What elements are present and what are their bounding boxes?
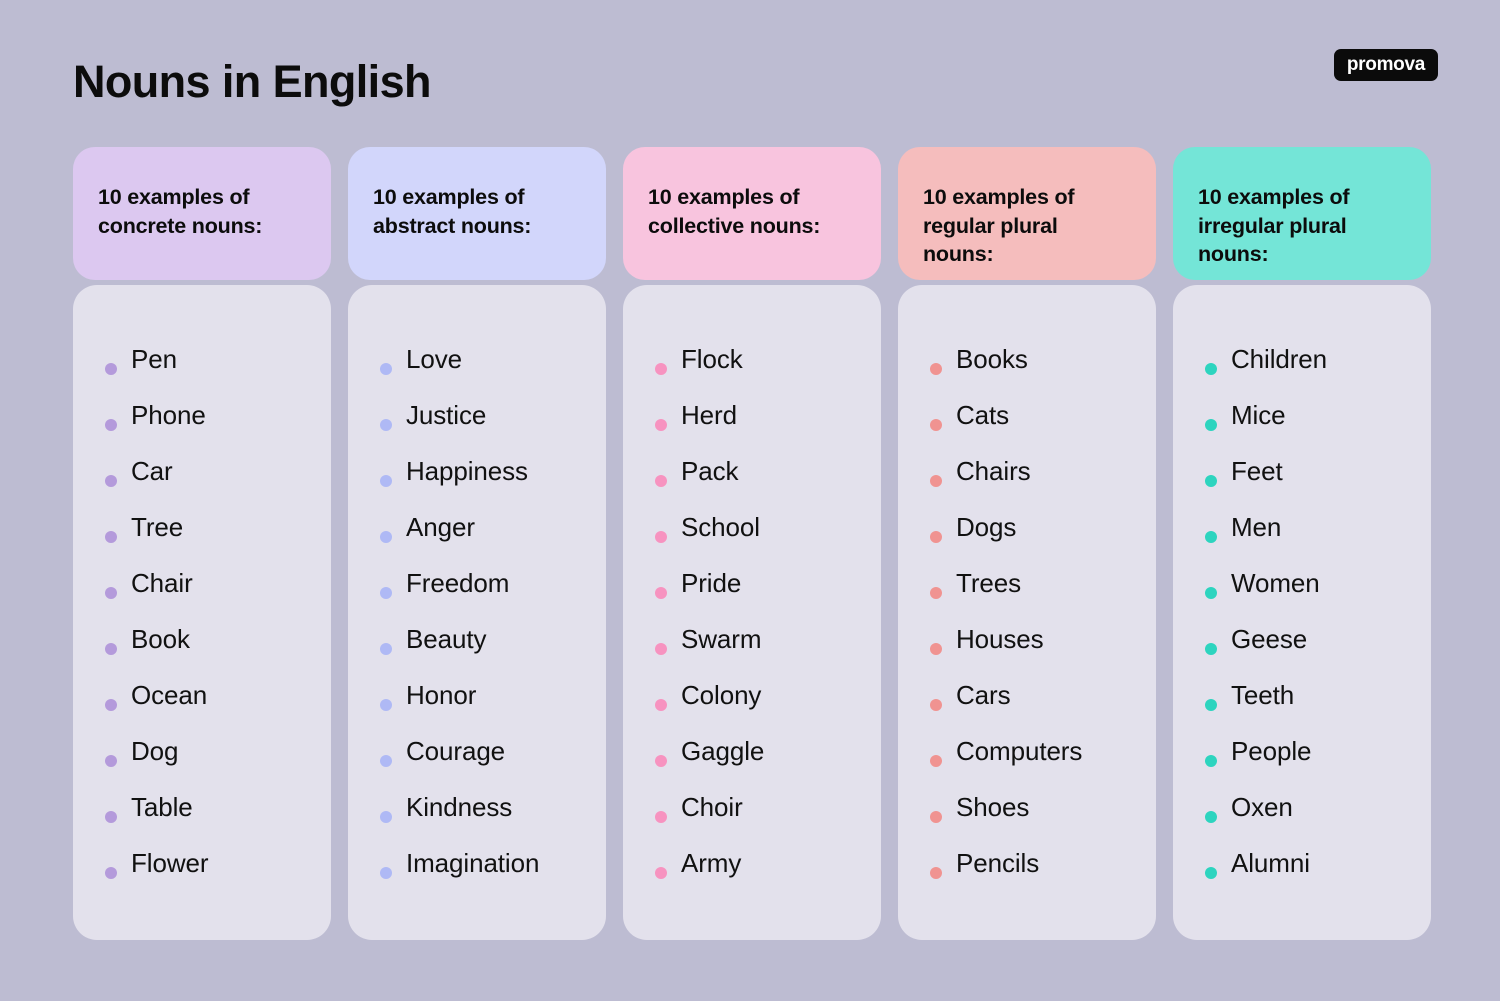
- list-item: Car: [91, 443, 313, 499]
- noun-list: FlockHerdPackSchoolPrideSwarmColonyGaggl…: [641, 331, 863, 891]
- bullet-icon: [930, 867, 942, 879]
- category-column-concrete-nouns: 10 examples ofconcrete nouns:PenPhoneCar…: [73, 147, 331, 940]
- page-header: Nouns in English promova: [0, 0, 1500, 140]
- category-body-concrete-nouns: PenPhoneCarTreeChairBookOceanDogTableFlo…: [73, 285, 331, 940]
- list-item: Book: [91, 611, 313, 667]
- list-item: Kindness: [366, 779, 588, 835]
- bullet-icon: [930, 531, 942, 543]
- list-item: Herd: [641, 387, 863, 443]
- list-item: Phone: [91, 387, 313, 443]
- category-header-line: irregular plural: [1198, 212, 1406, 241]
- list-item: Gaggle: [641, 723, 863, 779]
- list-item: Men: [1191, 499, 1413, 555]
- noun-list: BooksCatsChairsDogsTreesHousesCarsComput…: [916, 331, 1138, 891]
- bullet-icon: [1205, 419, 1217, 431]
- list-item: Tree: [91, 499, 313, 555]
- list-item: Pack: [641, 443, 863, 499]
- list-item: Mice: [1191, 387, 1413, 443]
- list-item: Beauty: [366, 611, 588, 667]
- noun-list: LoveJusticeHappinessAngerFreedomBeautyHo…: [366, 331, 588, 891]
- noun-label: Houses: [956, 626, 1044, 652]
- noun-label: Mice: [1231, 402, 1286, 428]
- list-item: People: [1191, 723, 1413, 779]
- bullet-icon: [105, 363, 117, 375]
- category-header-line: 10 examples of: [98, 183, 306, 212]
- noun-label: Geese: [1231, 626, 1307, 652]
- list-item: Flock: [641, 331, 863, 387]
- bullet-icon: [380, 867, 392, 879]
- bullet-icon: [105, 867, 117, 879]
- bullet-icon: [1205, 531, 1217, 543]
- bullet-icon: [105, 699, 117, 711]
- noun-label: Pencils: [956, 850, 1039, 876]
- noun-label: Computers: [956, 738, 1082, 764]
- list-item: Dog: [91, 723, 313, 779]
- bullet-icon: [930, 699, 942, 711]
- list-item: Feet: [1191, 443, 1413, 499]
- list-item: Ocean: [91, 667, 313, 723]
- noun-label: Honor: [406, 682, 476, 708]
- bullet-icon: [655, 811, 667, 823]
- list-item: Cars: [916, 667, 1138, 723]
- noun-label: Table: [131, 794, 193, 820]
- bullet-icon: [1205, 699, 1217, 711]
- category-body-regular-plural-nouns: BooksCatsChairsDogsTreesHousesCarsComput…: [898, 285, 1156, 940]
- bullet-icon: [380, 755, 392, 767]
- list-item: Justice: [366, 387, 588, 443]
- noun-label: Anger: [406, 514, 475, 540]
- bullet-icon: [380, 643, 392, 655]
- bullet-icon: [380, 363, 392, 375]
- noun-label: Herd: [681, 402, 737, 428]
- bullet-icon: [105, 419, 117, 431]
- noun-label: Men: [1231, 514, 1281, 540]
- bullet-icon: [655, 363, 667, 375]
- noun-label: Colony: [681, 682, 761, 708]
- noun-label: Phone: [131, 402, 206, 428]
- bullet-icon: [1205, 475, 1217, 487]
- category-column-abstract-nouns: 10 examples ofabstract nouns:LoveJustice…: [348, 147, 606, 940]
- noun-label: Pen: [131, 346, 177, 372]
- bullet-icon: [105, 643, 117, 655]
- list-item: Children: [1191, 331, 1413, 387]
- noun-label: Oxen: [1231, 794, 1293, 820]
- category-header-regular-plural-nouns: 10 examples ofregular pluralnouns:: [898, 147, 1156, 280]
- noun-label: Shoes: [956, 794, 1029, 820]
- noun-label: Choir: [681, 794, 743, 820]
- list-item: Books: [916, 331, 1138, 387]
- noun-label: Books: [956, 346, 1028, 372]
- category-header-line: abstract nouns:: [373, 212, 581, 241]
- bullet-icon: [655, 867, 667, 879]
- noun-label: Ocean: [131, 682, 207, 708]
- list-item: Freedom: [366, 555, 588, 611]
- list-item: Swarm: [641, 611, 863, 667]
- category-header-line: 10 examples of: [373, 183, 581, 212]
- noun-label: Pride: [681, 570, 741, 596]
- noun-label: Cats: [956, 402, 1009, 428]
- noun-label: Justice: [406, 402, 486, 428]
- noun-label: Flower: [131, 850, 208, 876]
- noun-list: ChildrenMiceFeetMenWomenGeeseTeethPeople…: [1191, 331, 1413, 891]
- bullet-icon: [380, 531, 392, 543]
- list-item: Chairs: [916, 443, 1138, 499]
- list-item: Oxen: [1191, 779, 1413, 835]
- bullet-icon: [380, 475, 392, 487]
- bullet-icon: [930, 475, 942, 487]
- page-title: Nouns in English: [73, 56, 431, 108]
- noun-label: Trees: [956, 570, 1021, 596]
- bullet-icon: [930, 419, 942, 431]
- category-header-collective-nouns: 10 examples ofcollective nouns:: [623, 147, 881, 280]
- noun-label: Swarm: [681, 626, 761, 652]
- noun-label: Love: [406, 346, 462, 372]
- list-item: Courage: [366, 723, 588, 779]
- category-header-line: nouns:: [923, 240, 1131, 269]
- list-item: School: [641, 499, 863, 555]
- bullet-icon: [930, 643, 942, 655]
- list-item: Anger: [366, 499, 588, 555]
- category-header-line: nouns:: [1198, 240, 1406, 269]
- list-item: Pencils: [916, 835, 1138, 891]
- category-header-line: 10 examples of: [648, 183, 856, 212]
- category-header-concrete-nouns: 10 examples ofconcrete nouns:: [73, 147, 331, 280]
- bullet-icon: [105, 811, 117, 823]
- noun-label: Dogs: [956, 514, 1016, 540]
- noun-label: Children: [1231, 346, 1327, 372]
- noun-label: Flock: [681, 346, 743, 372]
- noun-label: Women: [1231, 570, 1320, 596]
- bullet-icon: [380, 699, 392, 711]
- bullet-icon: [655, 643, 667, 655]
- category-column-irregular-plural-nouns: 10 examples ofirregular pluralnouns:Chil…: [1173, 147, 1431, 940]
- bullet-icon: [655, 475, 667, 487]
- bullet-icon: [105, 587, 117, 599]
- bullet-icon: [1205, 587, 1217, 599]
- noun-label: Feet: [1231, 458, 1283, 484]
- noun-category-columns: 10 examples ofconcrete nouns:PenPhoneCar…: [73, 147, 1435, 940]
- category-header-abstract-nouns: 10 examples ofabstract nouns:: [348, 147, 606, 280]
- noun-label: Dog: [131, 738, 178, 764]
- bullet-icon: [1205, 363, 1217, 375]
- list-item: Shoes: [916, 779, 1138, 835]
- list-item: Pen: [91, 331, 313, 387]
- bullet-icon: [655, 587, 667, 599]
- list-item: Imagination: [366, 835, 588, 891]
- bullet-icon: [380, 419, 392, 431]
- bullet-icon: [105, 531, 117, 543]
- category-body-abstract-nouns: LoveJusticeHappinessAngerFreedomBeautyHo…: [348, 285, 606, 940]
- noun-label: Car: [131, 458, 173, 484]
- bullet-icon: [380, 587, 392, 599]
- noun-label: People: [1231, 738, 1311, 764]
- list-item: Houses: [916, 611, 1138, 667]
- list-item: Flower: [91, 835, 313, 891]
- bullet-icon: [655, 531, 667, 543]
- bullet-icon: [930, 811, 942, 823]
- noun-label: Kindness: [406, 794, 512, 820]
- noun-label: Chairs: [956, 458, 1031, 484]
- list-item: Teeth: [1191, 667, 1413, 723]
- noun-label: Tree: [131, 514, 183, 540]
- noun-label: Courage: [406, 738, 505, 764]
- noun-label: School: [681, 514, 760, 540]
- noun-label: Gaggle: [681, 738, 764, 764]
- bullet-icon: [380, 811, 392, 823]
- bullet-icon: [930, 587, 942, 599]
- noun-label: Freedom: [406, 570, 509, 596]
- list-item: Table: [91, 779, 313, 835]
- category-header-irregular-plural-nouns: 10 examples ofirregular pluralnouns:: [1173, 147, 1431, 280]
- promova-logo-text: promova: [1347, 55, 1425, 74]
- list-item: Geese: [1191, 611, 1413, 667]
- list-item: Alumni: [1191, 835, 1413, 891]
- noun-label: Army: [681, 850, 741, 876]
- noun-label: Pack: [681, 458, 738, 484]
- category-body-collective-nouns: FlockHerdPackSchoolPrideSwarmColonyGaggl…: [623, 285, 881, 940]
- noun-label: Imagination: [406, 850, 539, 876]
- noun-label: Teeth: [1231, 682, 1294, 708]
- bullet-icon: [1205, 811, 1217, 823]
- noun-label: Book: [131, 626, 190, 652]
- category-header-line: regular plural: [923, 212, 1131, 241]
- bullet-icon: [1205, 755, 1217, 767]
- list-item: Army: [641, 835, 863, 891]
- bullet-icon: [930, 755, 942, 767]
- bullet-icon: [655, 755, 667, 767]
- noun-label: Happiness: [406, 458, 528, 484]
- promova-logo: promova: [1334, 49, 1438, 81]
- bullet-icon: [655, 699, 667, 711]
- category-header-line: 10 examples of: [923, 183, 1131, 212]
- list-item: Computers: [916, 723, 1138, 779]
- list-item: Happiness: [366, 443, 588, 499]
- list-item: Trees: [916, 555, 1138, 611]
- list-item: Colony: [641, 667, 863, 723]
- bullet-icon: [105, 475, 117, 487]
- noun-label: Cars: [956, 682, 1011, 708]
- category-header-line: concrete nouns:: [98, 212, 306, 241]
- category-column-regular-plural-nouns: 10 examples ofregular pluralnouns:BooksC…: [898, 147, 1156, 940]
- bullet-icon: [1205, 643, 1217, 655]
- category-header-line: collective nouns:: [648, 212, 856, 241]
- category-column-collective-nouns: 10 examples ofcollective nouns:FlockHerd…: [623, 147, 881, 940]
- category-body-irregular-plural-nouns: ChildrenMiceFeetMenWomenGeeseTeethPeople…: [1173, 285, 1431, 940]
- list-item: Dogs: [916, 499, 1138, 555]
- noun-label: Alumni: [1231, 850, 1310, 876]
- list-item: Cats: [916, 387, 1138, 443]
- list-item: Choir: [641, 779, 863, 835]
- bullet-icon: [655, 419, 667, 431]
- list-item: Love: [366, 331, 588, 387]
- list-item: Honor: [366, 667, 588, 723]
- bullet-icon: [1205, 867, 1217, 879]
- category-header-line: 10 examples of: [1198, 183, 1406, 212]
- list-item: Pride: [641, 555, 863, 611]
- noun-label: Beauty: [406, 626, 486, 652]
- list-item: Women: [1191, 555, 1413, 611]
- bullet-icon: [930, 363, 942, 375]
- noun-list: PenPhoneCarTreeChairBookOceanDogTableFlo…: [91, 331, 313, 891]
- bullet-icon: [105, 755, 117, 767]
- list-item: Chair: [91, 555, 313, 611]
- noun-label: Chair: [131, 570, 193, 596]
